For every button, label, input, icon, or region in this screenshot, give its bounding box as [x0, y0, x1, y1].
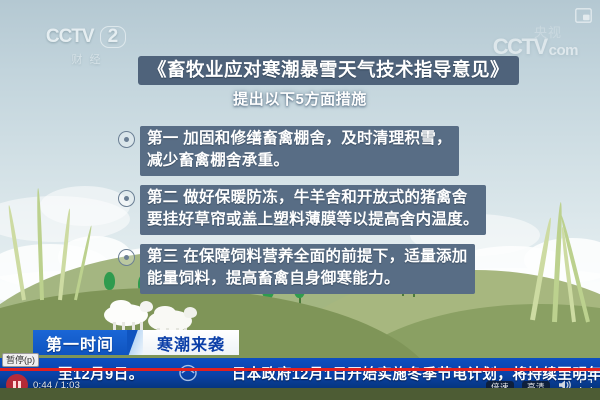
- channel-logo: CCTV 2 财经: [38, 26, 134, 66]
- picture-in-picture-icon[interactable]: [575, 8, 592, 23]
- list-item-line: 第二 做好保暖防冻，牛羊舍和开放式的猪禽舍: [147, 187, 479, 209]
- tv-broadcast-screenshot: CCTV 2 财经 央视 CCTV com 《畜牧业应对寒潮暴雪天气技术指导意见…: [0, 0, 600, 400]
- measures-list: 第一 加固和修缮畜禽棚舍，及时清理积雪， 减少畜禽棚舍承重。 第二 做好保暖防冻…: [118, 126, 518, 303]
- topic-name: 寒潮来袭: [157, 331, 225, 355]
- list-item-line: 能量饲料，提高畜禽自身御寒能力。: [147, 268, 468, 290]
- banner-divider: [127, 330, 143, 355]
- list-item-text-box: 第二 做好保暖防冻，牛羊舍和开放式的猪禽舍 要挂好草帘或盖上塑料薄膜等以提高舍内…: [140, 185, 486, 235]
- program-name-box: 第一时间: [33, 330, 127, 355]
- list-item: 第三 在保障饲料营养全面的前提下，适量添加 能量饲料，提高畜禽自身御寒能力。: [118, 244, 518, 294]
- headline-banner: 《畜牧业应对寒潮暴雪天气技术指导意见》: [138, 56, 519, 85]
- video-progress-bar[interactable]: [0, 368, 600, 371]
- headline-title: 《畜牧业应对寒潮暴雪天气技术指导意见》: [148, 59, 509, 81]
- headline-subtitle: 提出以下5方面措施: [233, 91, 367, 108]
- lower-third-banner: 第一时间 寒潮来袭: [33, 330, 239, 355]
- list-item: 第二 做好保暖防冻，牛羊舍和开放式的猪禽舍 要挂好草帘或盖上塑料薄膜等以提高舍内…: [118, 185, 518, 235]
- channel-logo-mark: CCTV: [46, 26, 94, 48]
- list-item-line: 要挂好草帘或盖上塑料薄膜等以提高舍内温度。: [147, 209, 479, 231]
- list-item-text-box: 第一 加固和修缮畜禽棚舍，及时清理积雪， 减少畜禽棚舍承重。: [140, 126, 459, 176]
- program-name: 第一时间: [46, 331, 114, 355]
- list-item-text-box: 第三 在保障饲料营养全面的前提下，适量添加 能量饲料，提高畜禽自身御寒能力。: [140, 244, 475, 294]
- list-item-line: 第三 在保障饲料营养全面的前提下，适量添加: [147, 246, 468, 268]
- subheadline-wrap: 提出以下5方面措施: [0, 88, 600, 109]
- pause-tooltip: 暂停(p): [2, 353, 39, 367]
- channel-logo-number: 2: [100, 26, 127, 48]
- list-item-line: 减少畜禽棚舍承重。: [147, 150, 452, 172]
- target-bullet-icon: [118, 190, 135, 207]
- ticker-logo-icon: [178, 364, 198, 382]
- topic-name-box: 寒潮来袭: [143, 330, 239, 355]
- list-item: 第一 加固和修缮畜禽棚舍，及时清理积雪， 减少畜禽棚舍承重。: [118, 126, 518, 176]
- target-bullet-icon: [118, 249, 135, 266]
- channel-logo-subtitle: 财经: [38, 51, 134, 67]
- video-progress-fill: [0, 368, 600, 371]
- list-item-line: 第一 加固和修缮畜禽棚舍，及时清理积雪，: [147, 128, 452, 150]
- target-bullet-icon: [118, 131, 135, 148]
- watermark-domain: com: [549, 42, 578, 60]
- watermark-cn-glyphs: 央视: [534, 22, 562, 41]
- footer-strip: [0, 388, 600, 400]
